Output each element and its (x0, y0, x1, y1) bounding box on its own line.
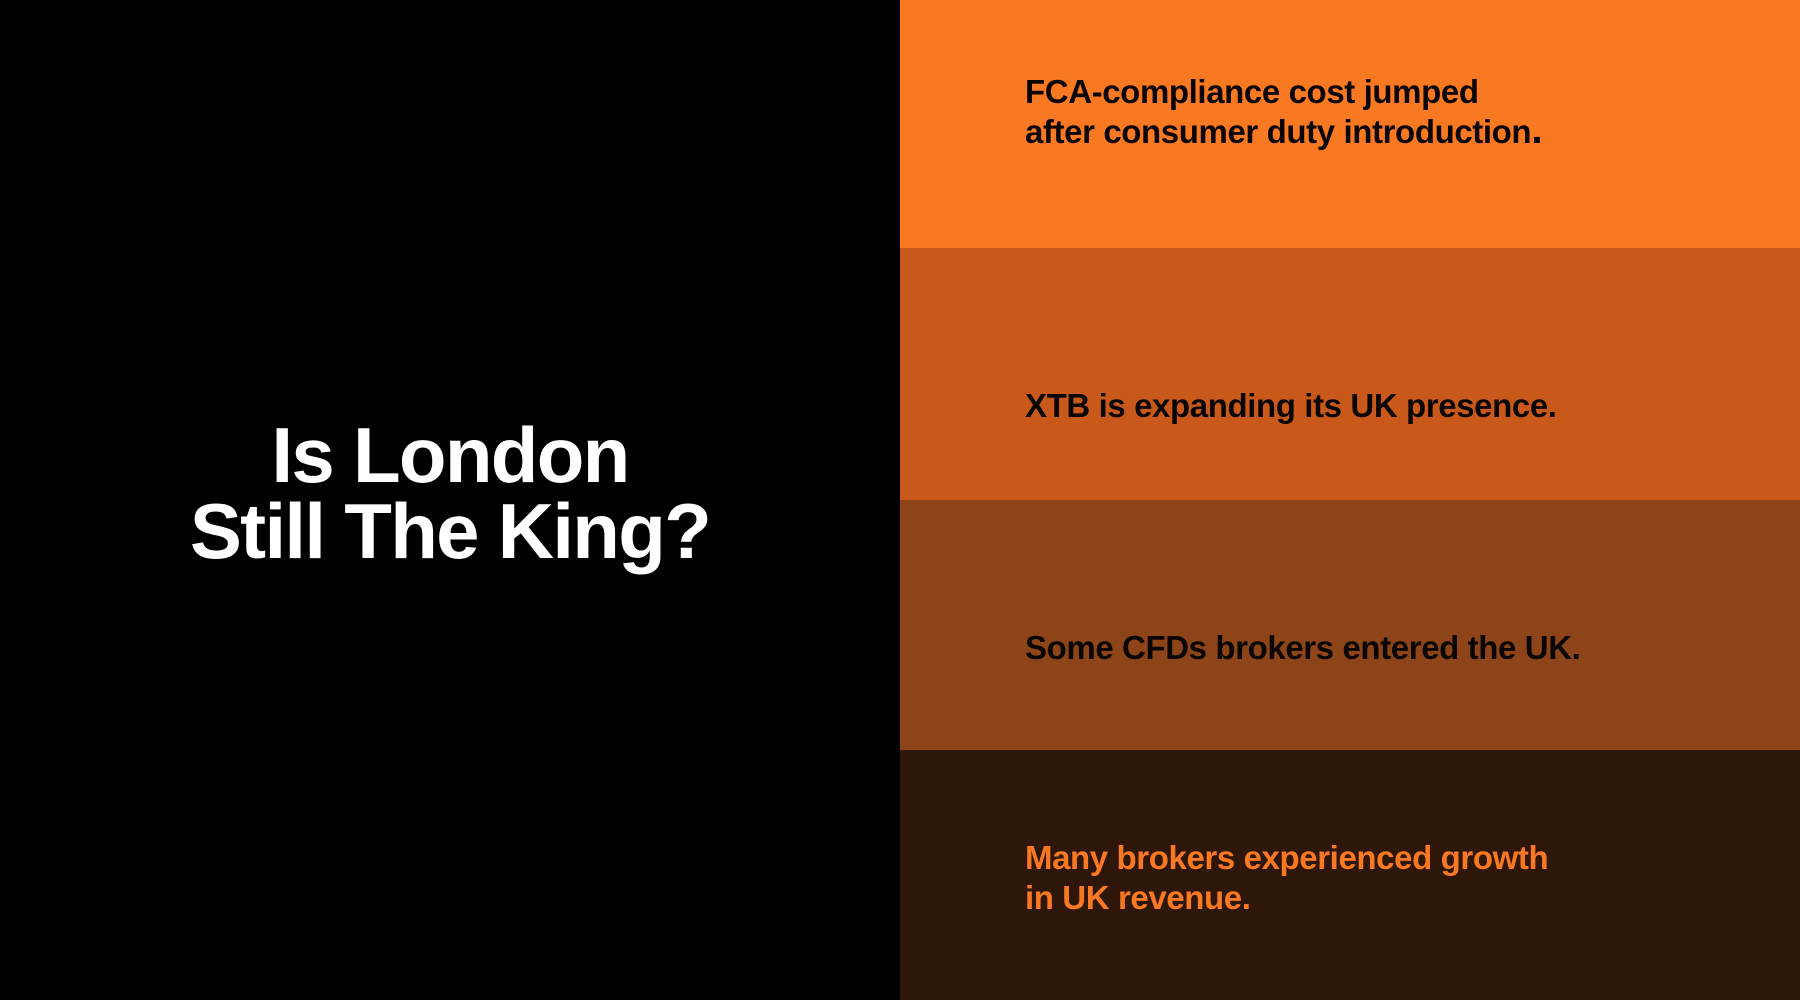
statement-band-cfd-brokers: Some CFDs brokers entered the UK. (900, 500, 1800, 750)
left-title-panel: Is LondonStill The King? (0, 0, 900, 1000)
statement-band-fca-compliance: FCA-compliance cost jumpedafter consumer… (900, 0, 1800, 248)
statement-line-1: Many brokers experienced growth (1025, 839, 1548, 876)
statement-line-1: XTB is expanding its UK presence. (1025, 387, 1557, 424)
statement-line-1: Some CFDs brokers entered the UK. (1025, 629, 1580, 666)
statement-band-text: Some CFDs brokers entered the UK. (1025, 628, 1770, 668)
page-title-line-2: Still The King? (190, 493, 710, 569)
statement-line-2: after consumer duty introduction (1025, 113, 1531, 150)
slide-root: Is LondonStill The King? FCA-compliance … (0, 0, 1800, 1000)
statement-band-xtb-expansion: XTB is expanding its UK presence. (900, 248, 1800, 500)
statement-line-2: in UK revenue. (1025, 879, 1251, 916)
statement-band-text: XTB is expanding its UK presence. (1025, 386, 1770, 426)
page-title-line-1: Is London (190, 417, 710, 493)
statement-band-uk-revenue-growth: Many brokers experienced growthin UK rev… (900, 750, 1800, 1000)
statement-band-text: Many brokers experienced growthin UK rev… (1025, 838, 1770, 919)
statement-line-1: FCA-compliance cost jumped (1025, 73, 1479, 110)
page-title: Is LondonStill The King? (190, 417, 710, 584)
statement-band-text: FCA-compliance cost jumpedafter consumer… (1025, 72, 1770, 153)
statement-bands-list: FCA-compliance cost jumpedafter consumer… (900, 0, 1800, 1000)
statement-trailing-period: . (1531, 106, 1542, 152)
